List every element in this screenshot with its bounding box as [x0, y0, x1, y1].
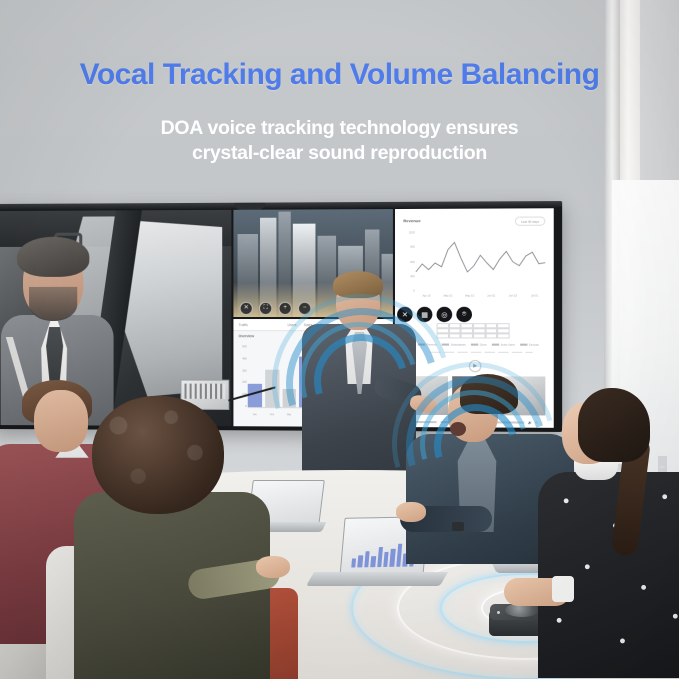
- attendee-curly-hair: [70, 396, 270, 679]
- axis-tick: Jun 01: [480, 294, 502, 297]
- legend-item: Churn: [471, 344, 487, 347]
- bar: [351, 559, 356, 567]
- dashboard-line-chart: 12009006003000: [416, 231, 546, 293]
- close-icon[interactable]: ✕: [240, 301, 253, 314]
- bar: [358, 555, 364, 567]
- legend-item: Revenue: [418, 344, 437, 347]
- bar: [383, 552, 389, 567]
- axis-tick: May 01: [437, 295, 459, 298]
- dashboard-line-path: [416, 231, 546, 293]
- dashboard-data-table: [437, 323, 510, 339]
- share-icon[interactable]: ⌾: [456, 307, 472, 322]
- bar: [370, 556, 375, 567]
- attendee-braided-hair: [556, 388, 679, 679]
- zoom-in-icon[interactable]: +: [278, 301, 291, 314]
- page-title: Vocal Tracking and Volume Balancing: [0, 58, 679, 92]
- legend-item: Forecast: [520, 344, 539, 347]
- fullscreen-icon[interactable]: ⛶: [259, 301, 272, 314]
- wristwatch: [452, 522, 464, 531]
- slide-menu-item-0[interactable]: Traffic: [239, 323, 248, 327]
- axis-tick: 1200: [409, 231, 415, 234]
- axis-tick: Mar: [282, 413, 296, 416]
- dashboard-x-axis: Apr 15May 01May 15Jun 01Jun 15Jul 01: [416, 294, 546, 297]
- legend-item: Active Users: [492, 344, 515, 347]
- bar: [364, 551, 370, 567]
- promo-image: Vocal Tracking and Volume Balancing DOA …: [0, 0, 679, 679]
- play-icon[interactable]: ▶: [469, 360, 482, 372]
- axis-tick: 200: [242, 381, 246, 384]
- dashboard-title: Revenue: [403, 218, 420, 223]
- axis-tick: Apr 15: [416, 295, 437, 298]
- bar: [390, 549, 396, 566]
- axis-tick: Jul 01: [524, 294, 546, 297]
- settings-icon[interactable]: ◎: [437, 307, 453, 322]
- slide-menu-item-1[interactable]: Users: [287, 323, 296, 327]
- bar: [377, 547, 383, 567]
- legend-item: Subscriptions: [442, 344, 466, 347]
- conference-camera-icon: [234, 201, 265, 210]
- page-subtitle: DOA voice tracking technology ensures cr…: [0, 116, 679, 166]
- dashboard-legend: RevenueSubscriptionsChurnActive UsersFor…: [418, 344, 539, 347]
- axis-tick: May 15: [459, 295, 481, 298]
- dashboard-divider: [430, 352, 532, 354]
- subtitle-line-1: DOA voice tracking technology ensures: [0, 116, 679, 141]
- bar: [282, 389, 296, 408]
- status-led: [497, 611, 500, 614]
- subtitle-line-2: crystal-clear sound reproduction: [0, 141, 679, 166]
- dashboard-range-selector[interactable]: Last 30 days: [515, 216, 545, 225]
- axis-tick: 300: [242, 369, 246, 372]
- grid-icon[interactable]: ▦: [417, 307, 433, 322]
- slide-section-label: Overview: [239, 334, 254, 338]
- axis-tick: 400: [242, 357, 246, 360]
- axis-tick: Jun 15: [502, 294, 524, 297]
- axis-tick: 600: [410, 260, 414, 263]
- axis-tick: 900: [410, 246, 414, 249]
- bar: [396, 544, 402, 566]
- axis-tick: 500: [242, 345, 246, 348]
